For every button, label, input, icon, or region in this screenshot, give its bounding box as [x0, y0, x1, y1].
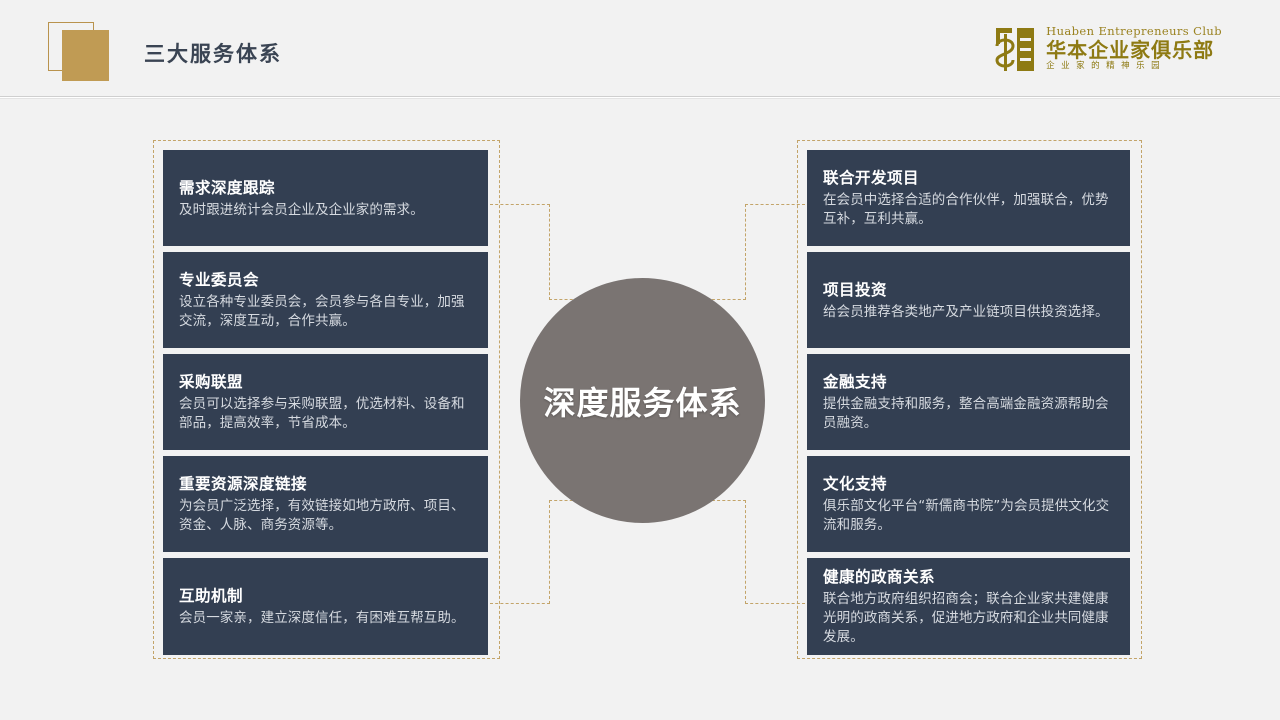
service-card-description: 为会员广泛选择，有效链接如地方政府、项目、资金、人脉、商务资源等。 — [179, 497, 472, 535]
service-card-description: 会员一家亲，建立深度信任，有困难互帮互助。 — [179, 609, 472, 628]
connector-right-lower-segment-3 — [745, 603, 805, 604]
service-card-title: 健康的政商关系 — [823, 567, 1114, 587]
connector-left-lower-segment-2 — [549, 500, 550, 604]
service-card-title: 互助机制 — [179, 586, 472, 606]
connector-right-upper-segment-1 — [745, 204, 805, 205]
service-card[interactable]: 文化支持 俱乐部文化平台“新儒商书院”为会员提供文化交流和服务。 — [807, 456, 1130, 552]
service-card-title: 联合开发项目 — [823, 168, 1114, 188]
center-hub-circle: 深度服务体系 — [520, 278, 765, 523]
service-card[interactable]: 健康的政商关系 联合地方政府组织招商会；联合企业家共建健康光明的政商关系，促进地… — [807, 558, 1130, 655]
logo-text-block: Huaben Entrepreneurs Club 华本企业家俱乐部 企业家的精… — [1046, 26, 1222, 70]
service-card[interactable]: 互助机制 会员一家亲，建立深度信任，有困难互帮互助。 — [163, 558, 488, 655]
huaben-logo-mark-icon — [993, 26, 1037, 73]
service-card-description: 俱乐部文化平台“新儒商书院”为会员提供文化交流和服务。 — [823, 497, 1114, 535]
service-card-title: 采购联盟 — [179, 372, 472, 392]
connector-left-upper-segment-2 — [549, 204, 550, 300]
service-card[interactable]: 需求深度跟踪 及时跟进统计会员企业及企业家的需求。 — [163, 150, 488, 246]
service-card-title: 专业委员会 — [179, 270, 472, 290]
service-card-title: 重要资源深度链接 — [179, 474, 472, 494]
service-card-description: 会员可以选择参与采购联盟，优选材料、设备和部品，提高效率，节省成本。 — [179, 395, 472, 433]
service-card[interactable]: 采购联盟 会员可以选择参与采购联盟，优选材料、设备和部品，提高效率，节省成本。 — [163, 354, 488, 450]
slide-header: 三大服务体系 Huaben Entrepreneurs Club 华本企业家俱乐… — [0, 0, 1280, 96]
header-divider — [0, 96, 1280, 99]
connector-left-upper-segment-1 — [490, 204, 550, 205]
service-card-description: 及时跟进统计会员企业及企业家的需求。 — [179, 201, 472, 220]
logo-english-name: Huaben Entrepreneurs Club — [1046, 26, 1222, 38]
service-card[interactable]: 重要资源深度链接 为会员广泛选择，有效链接如地方政府、项目、资金、人脉、商务资源… — [163, 456, 488, 552]
center-hub-label: 深度服务体系 — [543, 378, 741, 424]
service-card-description: 在会员中选择合适的合作伙伴，加强联合，优势互补，互利共赢。 — [823, 191, 1114, 229]
service-card-description: 联合地方政府组织招商会；联合企业家共建健康光明的政商关系，促进地方政府和企业共同… — [823, 590, 1114, 647]
brand-logo: Huaben Entrepreneurs Club 华本企业家俱乐部 企业家的精… — [993, 26, 1222, 73]
service-card[interactable]: 专业委员会 设立各种专业委员会，会员参与各自专业，加强交流，深度互动，合作共赢。 — [163, 252, 488, 348]
service-card-title: 文化支持 — [823, 474, 1114, 494]
connector-right-lower-segment-2 — [745, 500, 746, 604]
service-card-title: 项目投资 — [823, 280, 1114, 300]
logo-chinese-name: 华本企业家俱乐部 — [1046, 40, 1222, 60]
connector-left-lower-segment-3 — [490, 603, 550, 604]
page-title: 三大服务体系 — [144, 41, 282, 67]
service-card-description: 设立各种专业委员会，会员参与各自专业，加强交流，深度互动，合作共赢。 — [179, 293, 472, 331]
service-card-description: 提供金融支持和服务，整合高端金融资源帮助会员融资。 — [823, 395, 1114, 433]
connector-right-upper-segment-2 — [745, 204, 746, 300]
logo-tagline: 企业家的精神乐园 — [1046, 62, 1222, 71]
service-card[interactable]: 项目投资 给会员推荐各类地产及产业链项目供投资选择。 — [807, 252, 1130, 348]
right-service-column: 联合开发项目 在会员中选择合适的合作伙伴，加强联合，优势互补，互利共赢。 项目投… — [807, 150, 1130, 655]
left-service-column: 需求深度跟踪 及时跟进统计会员企业及企业家的需求。 专业委员会 设立各种专业委员… — [163, 150, 488, 655]
service-card-title: 金融支持 — [823, 372, 1114, 392]
service-card[interactable]: 联合开发项目 在会员中选择合适的合作伙伴，加强联合，优势互补，互利共赢。 — [807, 150, 1130, 246]
gold-filled-square-icon — [62, 30, 109, 81]
service-card[interactable]: 金融支持 提供金融支持和服务，整合高端金融资源帮助会员融资。 — [807, 354, 1130, 450]
service-card-title: 需求深度跟踪 — [179, 178, 472, 198]
service-card-description: 给会员推荐各类地产及产业链项目供投资选择。 — [823, 303, 1114, 322]
